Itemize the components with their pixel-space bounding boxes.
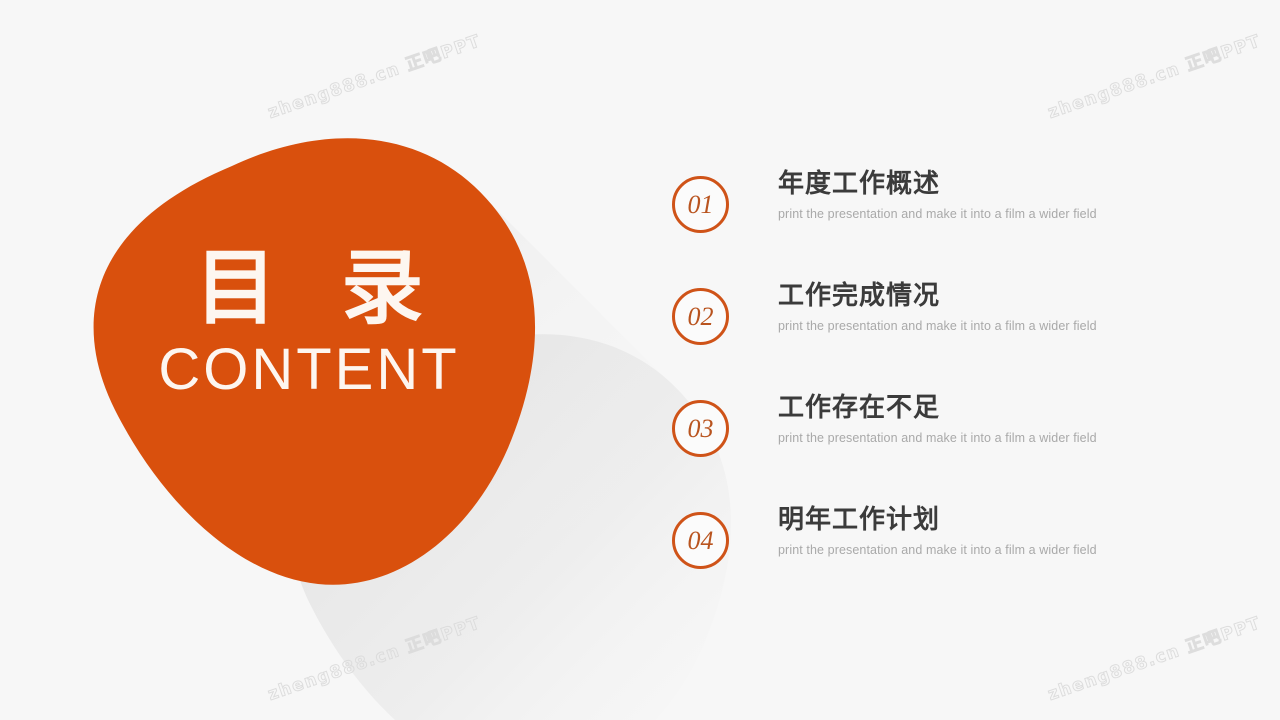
toc-item-desc: print the presentation and make it into … [778,319,1097,333]
toc-item-desc: print the presentation and make it into … [778,543,1097,557]
toc-number-badge[interactable]: 04 [672,512,729,569]
watermark: zheng888.cn 正吧PPT [1044,608,1264,705]
toc-item-text: 工作完成情况 print the presentation and make i… [778,280,1097,333]
toc-item-desc: print the presentation and make it into … [778,207,1097,221]
toc-number-label: 01 [688,192,714,218]
toc-item-title: 工作完成情况 [778,280,1097,313]
toc-number-badge[interactable]: 01 [672,176,729,233]
toc-item-text: 年度工作概述 print the presentation and make i… [778,168,1097,221]
toc-item-title: 工作存在不足 [778,392,1097,425]
toc-item-text: 工作存在不足 print the presentation and make i… [778,392,1097,445]
watermark: zheng888.cn 正吧PPT [1044,26,1264,123]
toc-item-title: 年度工作概述 [778,168,1097,201]
hero-blob-svg [0,0,860,720]
toc-item-desc: print the presentation and make it into … [778,431,1097,445]
slide-canvas: 目 录 CONTENT 01 年度工作概述 print the presenta… [0,0,1280,720]
toc-item-text: 明年工作计划 print the presentation and make i… [778,504,1097,557]
hero-shape-group: 目 录 CONTENT [0,0,760,720]
toc-number-label: 02 [688,304,714,330]
toc-number-label: 03 [688,416,714,442]
toc-number-label: 04 [688,528,714,554]
toc-number-badge[interactable]: 02 [672,288,729,345]
toc-item-title: 明年工作计划 [778,504,1097,537]
toc-number-badge[interactable]: 03 [672,400,729,457]
